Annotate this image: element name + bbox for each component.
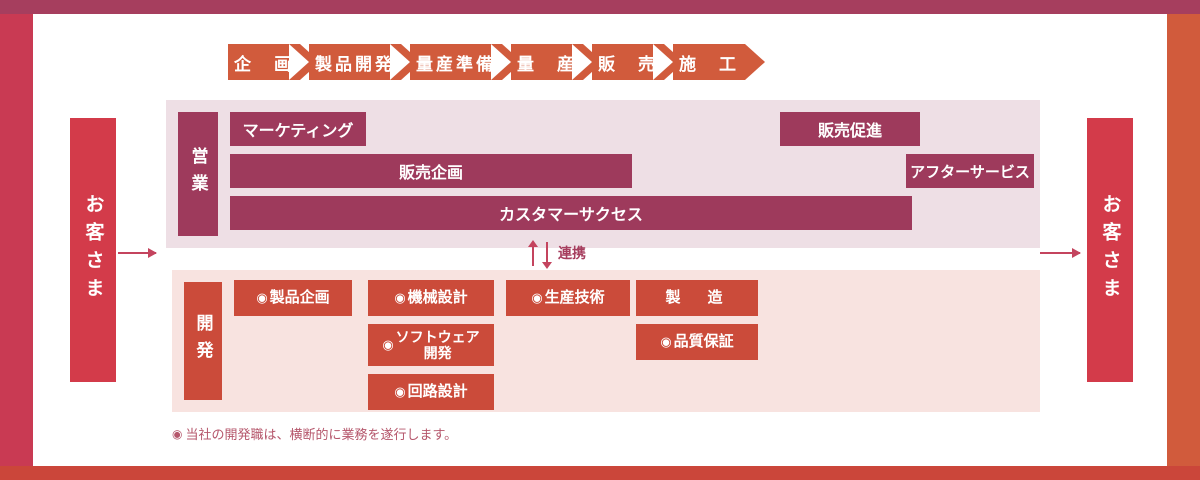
stage-chevron-seihinkaihatsu: 製品開発 [309,44,401,80]
frame-right-bar [1167,14,1200,466]
dev-box-software-kaihatsu: ◉ ソフトウェア 開発 [368,324,494,366]
sales-bar-marketing: マーケティング [230,112,366,146]
linkage-label: 連携 [558,243,586,263]
development-section-label: 開発 [184,282,222,400]
stage-chevron-seko: 施 工 [673,44,745,80]
dev-box-kairo-sekkei: ◉ 回路設計 [368,374,494,410]
linkage-arrow-up-icon [532,246,534,266]
sales-bar-hanbai-kikaku: 販売企画 [230,154,632,188]
stage-label: 施 工 [679,50,739,75]
bullet-icon: ◉ [531,291,542,306]
dev-box-label: 生産技術 [545,289,605,306]
dev-box-seizo: 製 造 [636,280,758,316]
dev-box-hinshitsu-hosho: ◉ 品質保証 [636,324,758,360]
dev-box-kikai-sekkei: ◉ 機械設計 [368,280,494,316]
stage-label: 販 売 [598,50,658,75]
frame-bottom-bar [0,466,1200,480]
bullet-icon: ◉ [172,427,182,441]
customer-box-left: お客さま [70,118,116,382]
process-stage-bar: 企 画 製品開発 量産準備 量 産 販 売 施 工 [228,44,745,80]
stage-label: 量 産 [517,50,577,75]
bullet-icon: ◉ [660,335,671,350]
stage-label: 企 画 [234,50,294,75]
dev-box-label: 機械設計 [408,289,468,306]
dev-box-label: 製品企画 [270,289,330,306]
bullet-icon: ◉ [394,291,405,306]
development-section-panel: 開発 ◉ 製品企画 ◉ 機械設計 ◉ ソフトウェア 開発 ◉ 回路設計 ◉ 生産… [172,270,1040,412]
frame-top-bar [0,0,1200,14]
dev-box-label: 製 造 [665,289,728,306]
frame-left-bar [0,14,33,466]
flow-arrow-inbound [118,252,156,254]
flow-arrow-outbound [1040,252,1080,254]
sales-section-panel: 営業 マーケティング 販売企画 カスタマーサクセス 販売促進 アフターサービス [166,100,1040,248]
dev-box-seihin-kikaku: ◉ 製品企画 [234,280,352,316]
sales-bar-hanbai-sokushin: 販売促進 [780,112,920,146]
dev-box-label: ソフトウェア 開発 [396,329,480,361]
sales-section-label: 営業 [178,112,218,236]
sales-bar-after-service: アフターサービス [906,154,1034,188]
dev-box-label: 回路設計 [408,383,468,400]
linkage-arrow-down-icon [546,242,548,262]
dev-box-label: 品質保証 [674,333,734,350]
bullet-icon: ◉ [382,338,393,353]
bullet-icon: ◉ [256,291,267,306]
stage-label: 製品開発 [315,50,395,75]
footnote: ◉ 当社の開発職は、横断的に業務を遂行します。 [172,424,457,443]
sales-bar-customer-success: カスタマーサクセス [230,196,912,230]
stage-chevron-ryosanjunbi: 量産準備 [410,44,502,80]
dev-box-seisan-gijutsu: ◉ 生産技術 [506,280,630,316]
linkage-connector: 連携 [528,240,638,268]
bullet-icon: ◉ [394,385,405,400]
footnote-text: 当社の開発職は、横断的に業務を遂行します。 [185,424,457,443]
stage-label: 量産準備 [416,50,496,75]
customer-box-right: お客さま [1087,118,1133,382]
